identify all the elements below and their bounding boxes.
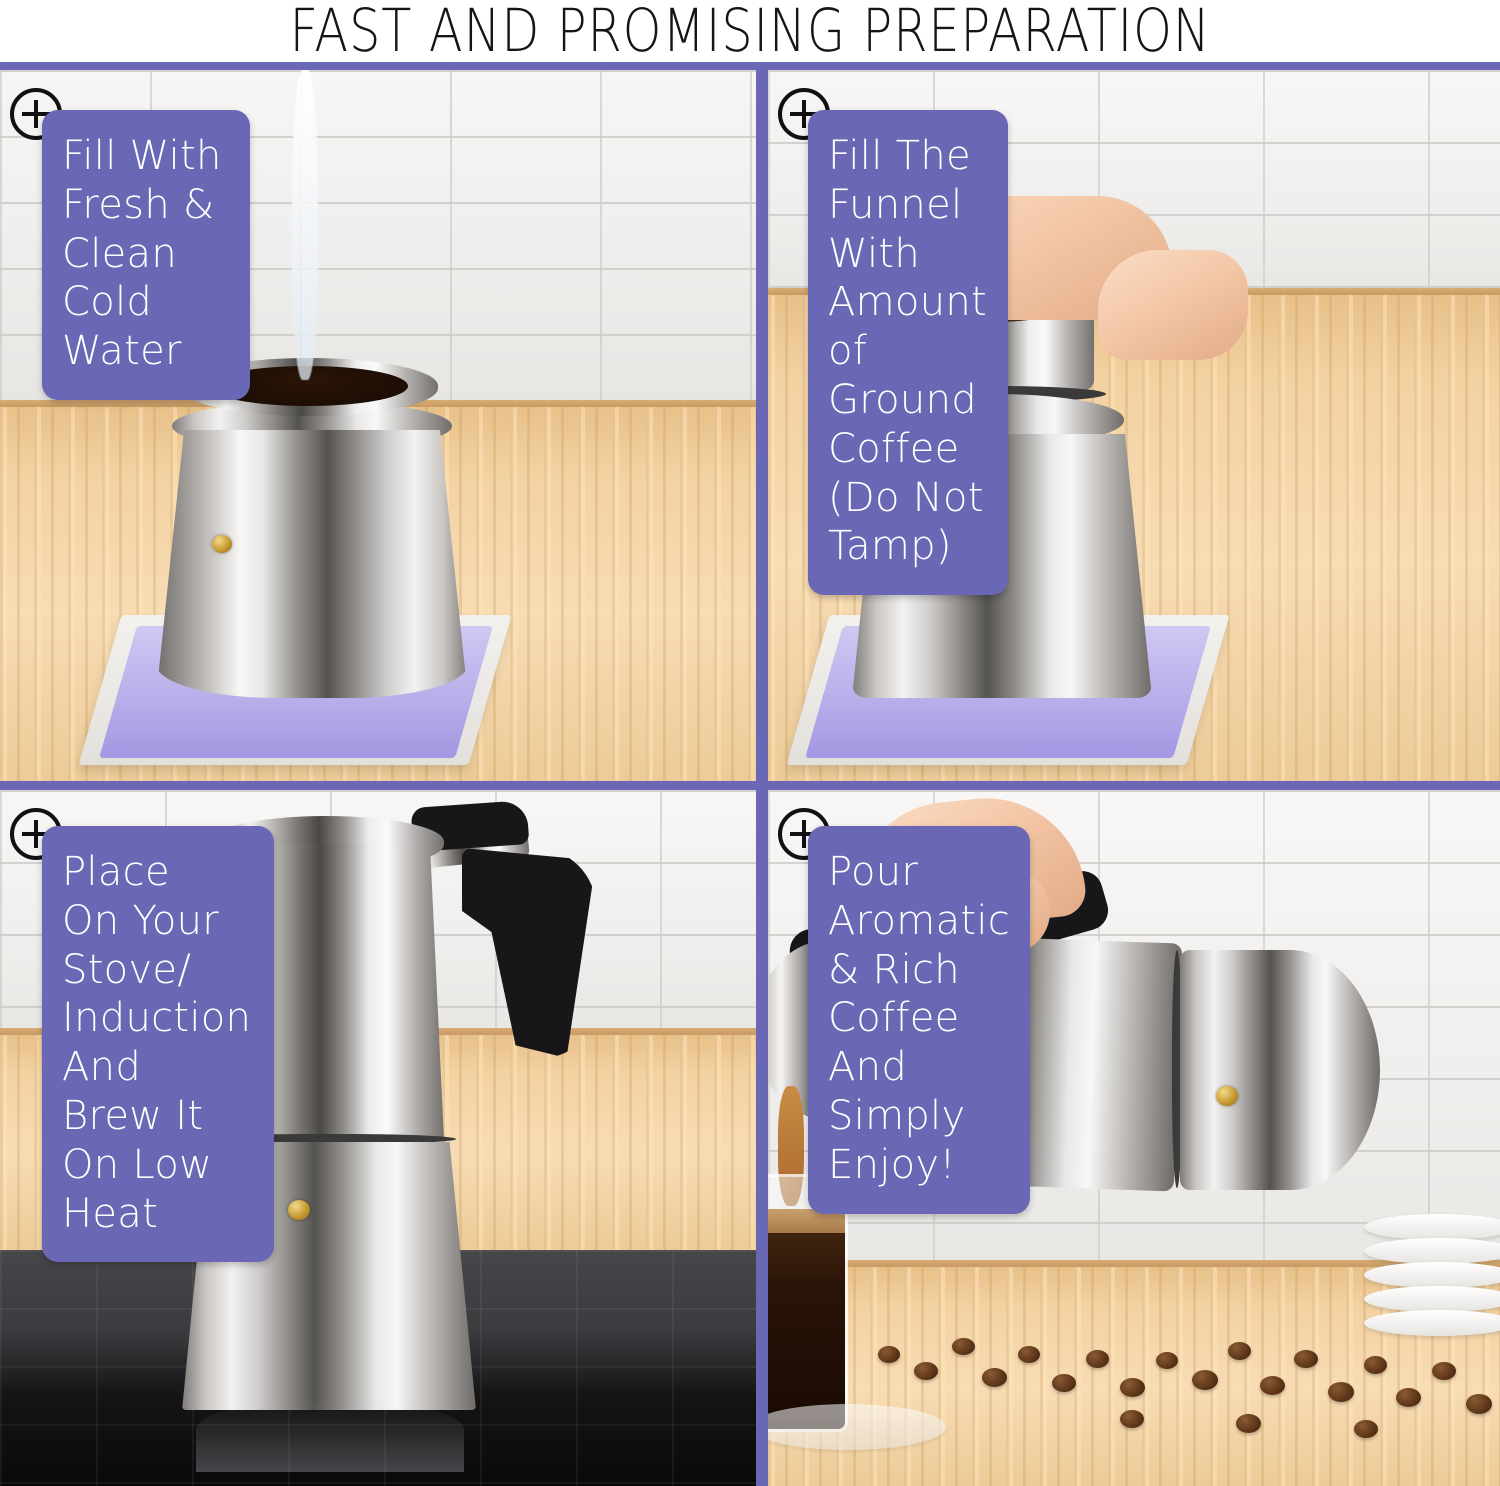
safety-valve-icon [288,1200,310,1220]
coffee-bean [914,1362,938,1380]
coffee-bean [1236,1414,1261,1433]
coffee-bean [1294,1350,1318,1368]
panel-1-caption: Fill With Fresh & Clean Cold Water [42,110,250,400]
panel-1[interactable]: Fill With Fresh & Clean Cold Water [0,70,756,781]
coffee-bean [1120,1378,1145,1397]
panel-3[interactable]: Place On Your Stove/ Induction And Brew … [0,790,756,1486]
coffee-bean [1120,1410,1144,1428]
panel-2-caption: Fill The Funnel With Amount of Ground Co… [808,110,1008,595]
coffee-bean [1432,1362,1456,1380]
coffee-bean [1466,1394,1492,1414]
panel-4-caption: Pour Aromatic & Rich Coffee And Simply E… [808,826,1030,1214]
coffee-bean [1260,1376,1285,1395]
page-title: FAST AND PROMISING PREPARATION [290,1,1211,60]
coffee-bean [1086,1350,1109,1368]
safety-valve-icon [212,535,232,553]
glass-coffee-fill [768,1209,845,1429]
moka-pot-base [156,430,468,698]
coffee-bean [1228,1342,1251,1360]
moka-pot-base [1180,950,1380,1190]
panel-grid: Fill With Fresh & Clean Cold Water [0,62,1500,1486]
coffee-bean [1052,1374,1076,1392]
water-stream [292,70,318,380]
coffee-bean [878,1346,900,1363]
coffee-bean [1018,1346,1040,1363]
header-bar: FAST AND PROMISING PREPARATION [0,0,1500,62]
panel-4[interactable]: Pour Aromatic & Rich Coffee And Simply E… [768,790,1500,1486]
pot-reflection [196,1402,464,1472]
coffee-bean [1328,1382,1354,1402]
panel-3-caption: Place On Your Stove/ Induction And Brew … [42,826,274,1262]
infographic-root: FAST AND PROMISING PREPARATION [0,0,1500,1486]
coffee-bean [1354,1420,1378,1438]
coffee-bean [1364,1356,1387,1374]
coffee-bean [952,1338,975,1355]
coffee-bean [1192,1370,1218,1390]
coffee-bean [1156,1352,1178,1369]
panel-2[interactable]: Fill The Funnel With Amount of Ground Co… [768,70,1500,781]
hand-palm [1098,250,1248,360]
safety-valve-icon [1216,1086,1238,1106]
coffee-bean [1396,1388,1421,1407]
coffee-bean [982,1368,1007,1387]
